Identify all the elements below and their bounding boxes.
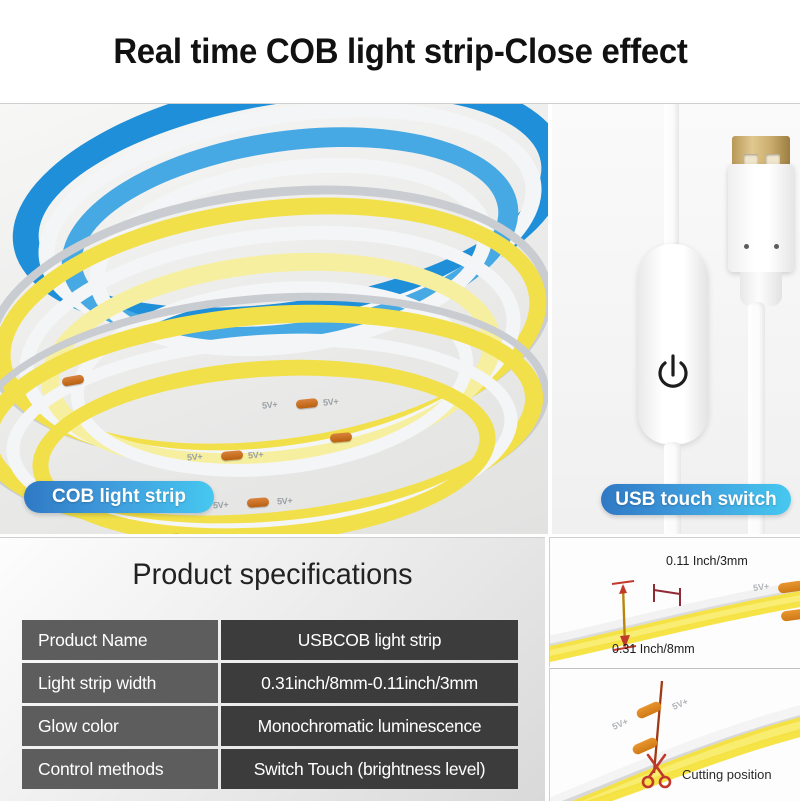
cable-upper	[664, 104, 679, 250]
usb-housing	[728, 164, 794, 272]
badge-cob-label: COB light strip	[52, 486, 186, 508]
usb-housing-dot	[774, 244, 779, 249]
strip-voltage-label: 5V+	[187, 451, 203, 462]
badge-usb-touch-switch: USB touch switch	[601, 484, 791, 515]
solder-pad	[247, 497, 270, 508]
width-label: 0.31 Inch/8mm	[612, 642, 695, 656]
title-bar: Real time COB light strip-Close effect	[0, 0, 800, 103]
solder-pad	[160, 533, 182, 534]
spec-value: Monochromatic luminescence	[221, 706, 518, 746]
thickness-label: 0.11 Inch/3mm	[666, 554, 748, 568]
table-row: Product Name USBCOB light strip	[22, 620, 518, 660]
strip-voltage-label: 5V+	[248, 449, 264, 460]
table-row: Light strip width 0.31inch/8mm-0.11inch/…	[22, 663, 518, 703]
usb-strain-relief	[740, 272, 782, 306]
thickness-dimension-marker	[650, 582, 690, 608]
product-infographic: Real time COB light strip-Close effect	[0, 0, 800, 800]
strip-voltage-label: 5V+	[323, 396, 339, 408]
usb-housing-dot	[744, 244, 749, 249]
spec-label: Glow color	[22, 706, 218, 746]
table-row: Glow color Monochromatic luminescence	[22, 706, 518, 746]
touch-switch-module	[638, 244, 708, 444]
spec-label: Product Name	[22, 620, 218, 660]
usb-switch-photo	[552, 104, 800, 534]
spec-label: Light strip width	[22, 663, 218, 703]
power-icon	[656, 354, 690, 392]
specifications-table: Product Name USBCOB light strip Light st…	[22, 620, 518, 792]
coiled-led-strip	[0, 104, 548, 534]
dimension-diagram-panel: 5V+ 0.11 Inch/3mm 0.31 Inch/8mm	[549, 537, 800, 667]
page-title: Real time COB light strip-Close effect	[113, 32, 687, 72]
scissors-icon	[640, 753, 674, 789]
strip-voltage-label: 5V+	[277, 495, 293, 506]
spec-label: Control methods	[22, 749, 218, 789]
strip-voltage-label: 5V+	[262, 399, 278, 411]
hero-photo-section: 5V+ 5V+ 5V+ 5V+ 5V+ 5V+	[0, 103, 800, 534]
cob-strip-photo: 5V+ 5V+ 5V+ 5V+ 5V+ 5V+	[0, 104, 548, 534]
spec-value: USBCOB light strip	[221, 620, 518, 660]
spec-value: 0.31inch/8mm-0.11inch/3mm	[221, 663, 518, 703]
spec-value: Switch Touch (brightness level)	[221, 749, 518, 789]
badge-usb-label: USB touch switch	[615, 489, 777, 511]
strip-voltage-label: 5V+	[213, 499, 229, 510]
table-row: Control methods Switch Touch (brightness…	[22, 749, 518, 789]
cutting-position-label: Cutting position	[682, 767, 772, 782]
cutting-position-panel: 5V+ 5V+ Cutting position	[549, 668, 800, 801]
spec-heading: Product specifications	[11, 558, 534, 592]
badge-cob-light-strip: COB light strip	[24, 481, 214, 513]
